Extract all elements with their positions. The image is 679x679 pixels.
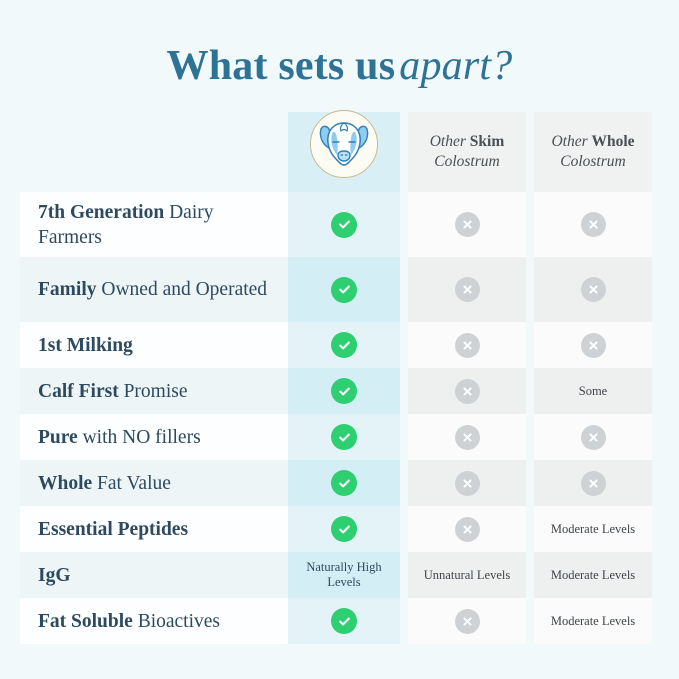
row-label-bold: Whole [38, 473, 92, 494]
column-gap [400, 414, 408, 460]
cross-icon [455, 609, 480, 634]
row-label-text: Essential Peptides [38, 517, 188, 542]
row-label: IgG [20, 552, 288, 598]
column-gap [400, 506, 408, 552]
page-title: What sets usapart? [0, 40, 679, 92]
table-cell-skim [408, 368, 526, 414]
row-label-text: IgG [38, 563, 71, 588]
header-skim-italic: Other [430, 133, 470, 150]
check-icon [331, 277, 357, 303]
column-gap [400, 598, 408, 644]
table-cell-whole: Moderate Levels [534, 506, 652, 552]
table-cell-skim [408, 460, 526, 506]
row-label: 1st Milking [20, 322, 288, 368]
check-icon [331, 212, 357, 238]
cow-head-logo-icon [310, 110, 378, 178]
column-gap [526, 506, 534, 552]
header-cell-other-skim: Other Skim Colostrum [408, 112, 526, 192]
row-label: Pure with NO fillers [20, 414, 288, 460]
row-label-text: Calf First Promise [38, 379, 187, 404]
row-label: Essential Peptides [20, 506, 288, 552]
header-cell-brand [288, 112, 400, 192]
row-label: Fat Soluble Bioactives [20, 598, 288, 644]
row-label-bold: Fat Soluble [38, 611, 133, 632]
table-cell-whole [534, 257, 652, 322]
cross-icon [581, 333, 606, 358]
cell-value-text: Moderate Levels [545, 522, 641, 537]
table-cell-whole: Moderate Levels [534, 552, 652, 598]
page-title-italic: apart? [395, 43, 512, 89]
column-gap [526, 598, 534, 644]
row-label: 7th Generation Dairy Farmers [20, 192, 288, 257]
comparison-table: Other Skim Colostrum Other Whole Colostr… [20, 112, 656, 644]
cross-icon [455, 277, 480, 302]
column-gap [526, 322, 534, 368]
table-cell-skim [408, 257, 526, 322]
check-icon [331, 470, 357, 496]
column-gap [400, 322, 408, 368]
row-label-rest: Fat Value [92, 473, 171, 494]
check-icon [331, 424, 357, 450]
cell-value-text: Moderate Levels [545, 614, 641, 629]
row-label-text: 7th Generation Dairy Farmers [38, 200, 272, 250]
header-whole-bold: Whole [591, 133, 634, 150]
row-label-bold: IgG [38, 565, 71, 586]
header-skim-line2: Colostrum [434, 153, 499, 170]
table-cell-whole [534, 460, 652, 506]
table-cell-brand [288, 506, 400, 552]
header-other-skim-text: Other Skim Colostrum [430, 132, 505, 172]
column-gap [400, 192, 408, 257]
column-gap [526, 192, 534, 257]
table-cell-brand [288, 598, 400, 644]
cross-icon [455, 212, 480, 237]
cross-icon [581, 277, 606, 302]
row-label-bold: Family [38, 279, 97, 300]
cross-icon [455, 379, 480, 404]
table-row: IgGNaturally High LevelsUnnatural Levels… [20, 552, 656, 598]
row-label-bold: 1st Milking [38, 335, 133, 356]
table-row: 1st Milking [20, 322, 656, 368]
column-gap [400, 552, 408, 598]
table-cell-brand [288, 192, 400, 257]
page-title-bold: What sets us [167, 43, 396, 89]
row-label-bold: Essential Peptides [38, 519, 188, 540]
row-label-rest: Bioactives [133, 611, 220, 632]
table-row: Fat Soluble BioactivesModerate Levels [20, 598, 656, 644]
cross-icon [455, 333, 480, 358]
table-cell-brand [288, 257, 400, 322]
row-label-text: Pure with NO fillers [38, 425, 201, 450]
header-skim-bold: Skim [470, 133, 504, 150]
check-icon [331, 516, 357, 542]
cross-icon [455, 517, 480, 542]
column-gap [526, 112, 534, 192]
row-label-rest: Owned and Operated [97, 279, 268, 300]
table-cell-skim [408, 506, 526, 552]
row-label-rest: Promise [119, 381, 188, 402]
row-label-text: Fat Soluble Bioactives [38, 609, 220, 634]
header-other-whole-text: Other Whole Colostrum [551, 132, 634, 172]
column-gap [400, 368, 408, 414]
cell-value-text: Unnatural Levels [418, 568, 516, 583]
table-row: 7th Generation Dairy Farmers [20, 192, 656, 257]
row-label-text: Whole Fat Value [38, 471, 171, 496]
column-gap [526, 460, 534, 506]
row-label-bold: 7th Generation [38, 202, 164, 223]
column-gap [526, 368, 534, 414]
table-row: Calf First PromiseSome [20, 368, 656, 414]
header-cell-other-whole: Other Whole Colostrum [534, 112, 652, 192]
table-cell-brand [288, 414, 400, 460]
header-whole-line2: Colostrum [560, 153, 625, 170]
header-label-spacer [20, 112, 288, 192]
table-cell-skim: Unnatural Levels [408, 552, 526, 598]
check-icon [331, 608, 357, 634]
cross-icon [455, 425, 480, 450]
row-label: Family Owned and Operated [20, 257, 288, 322]
column-gap [526, 414, 534, 460]
table-cell-skim [408, 192, 526, 257]
table-header-row: Other Skim Colostrum Other Whole Colostr… [20, 112, 656, 192]
check-icon [331, 378, 357, 404]
cross-icon [581, 425, 606, 450]
cross-icon [581, 212, 606, 237]
table-row: Family Owned and Operated [20, 257, 656, 322]
table-cell-skim [408, 322, 526, 368]
cross-icon [581, 471, 606, 496]
cross-icon [455, 471, 480, 496]
column-gap [526, 552, 534, 598]
row-label-text: Family Owned and Operated [38, 277, 267, 302]
table-cell-brand [288, 322, 400, 368]
row-label-text: 1st Milking [38, 333, 133, 358]
comparison-page: What sets usapart? [0, 0, 679, 679]
table-row: Whole Fat Value [20, 460, 656, 506]
table-cell-brand: Naturally High Levels [288, 552, 400, 598]
table-body: 7th Generation Dairy FarmersFamily Owned… [20, 192, 656, 644]
brand-logo-wrap [310, 110, 378, 178]
table-cell-whole: Some [534, 368, 652, 414]
table-cell-brand [288, 368, 400, 414]
table-cell-skim [408, 414, 526, 460]
cell-value-text: Moderate Levels [545, 568, 641, 583]
table-row: Essential PeptidesModerate Levels [20, 506, 656, 552]
column-gap [400, 257, 408, 322]
table-row: Pure with NO fillers [20, 414, 656, 460]
table-cell-brand [288, 460, 400, 506]
row-label-bold: Pure [38, 427, 78, 448]
column-gap [526, 257, 534, 322]
row-label: Whole Fat Value [20, 460, 288, 506]
table-cell-whole [534, 322, 652, 368]
table-cell-whole [534, 192, 652, 257]
cell-value-text: Some [573, 384, 613, 399]
table-cell-whole [534, 414, 652, 460]
column-gap [400, 112, 408, 192]
column-gap [400, 460, 408, 506]
row-label-rest: with NO fillers [78, 427, 201, 448]
table-cell-whole: Moderate Levels [534, 598, 652, 644]
row-label-bold: Calf First [38, 381, 119, 402]
header-whole-italic: Other [551, 133, 591, 150]
table-cell-skim [408, 598, 526, 644]
check-icon [331, 332, 357, 358]
cell-value-text: Naturally High Levels [288, 560, 400, 590]
row-label: Calf First Promise [20, 368, 288, 414]
